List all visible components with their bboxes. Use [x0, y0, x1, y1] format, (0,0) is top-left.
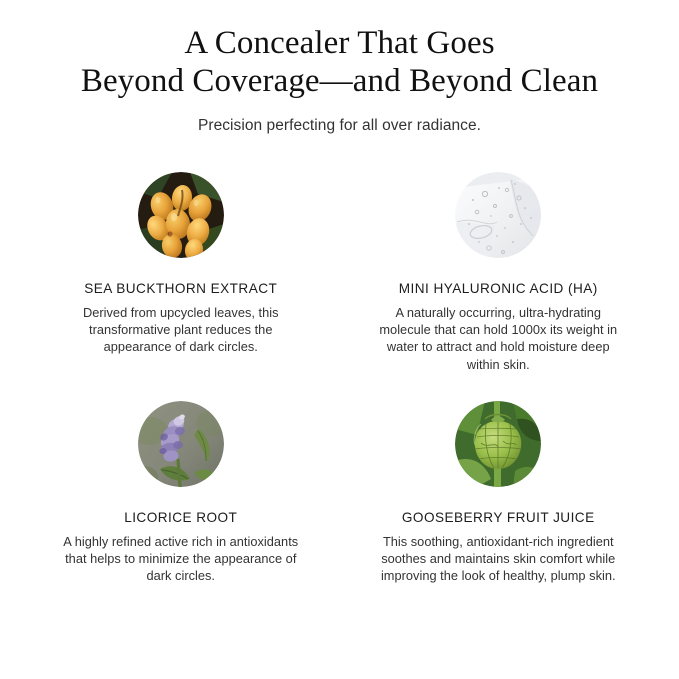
sea-buckthorn-berries-photo [138, 172, 224, 258]
ingredient-description: A highly refined active rich in antioxid… [55, 533, 307, 585]
ingredient-grid: SEA BUCKTHORN EXTRACT Derived from upcyc… [0, 172, 679, 584]
ingredient-benefits-page: A Concealer That Goes Beyond Coverage—an… [0, 0, 679, 679]
ingredient-name: LICORICE ROOT [124, 509, 237, 526]
ingredient-description: This soothing, antioxidant-rich ingredie… [372, 533, 624, 585]
hyaluronic-acid-gel-photo [455, 172, 541, 258]
page-title: A Concealer That Goes Beyond Coverage—an… [0, 24, 679, 100]
ingredient-card-sea-buckthorn: SEA BUCKTHORN EXTRACT Derived from upcyc… [22, 172, 340, 373]
page-header: A Concealer That Goes Beyond Coverage—an… [0, 0, 679, 136]
ingredient-name: SEA BUCKTHORN EXTRACT [84, 280, 277, 297]
licorice-root-flower-photo [138, 401, 224, 487]
ingredient-card-gooseberry: GOOSEBERRY FRUIT JUICE This soothing, an… [340, 401, 658, 585]
ingredient-name: GOOSEBERRY FRUIT JUICE [402, 509, 595, 526]
ingredient-description: Derived from upcycled leaves, this trans… [55, 304, 307, 356]
page-subtitle: Precision perfecting for all over radian… [0, 116, 679, 136]
ingredient-description: A naturally occurring, ultra-hydrating m… [372, 304, 624, 373]
page-title-line-1: A Concealer That Goes [0, 24, 679, 62]
gooseberry-fruit-photo [455, 401, 541, 487]
ingredient-card-licorice-root: LICORICE ROOT A highly refined active ri… [22, 401, 340, 585]
page-title-line-2: Beyond Coverage—and Beyond Clean [0, 62, 679, 100]
ingredient-name: MINI HYALURONIC ACID (HA) [399, 280, 598, 297]
ingredient-card-hyaluronic-acid: MINI HYALURONIC ACID (HA) A naturally oc… [340, 172, 658, 373]
